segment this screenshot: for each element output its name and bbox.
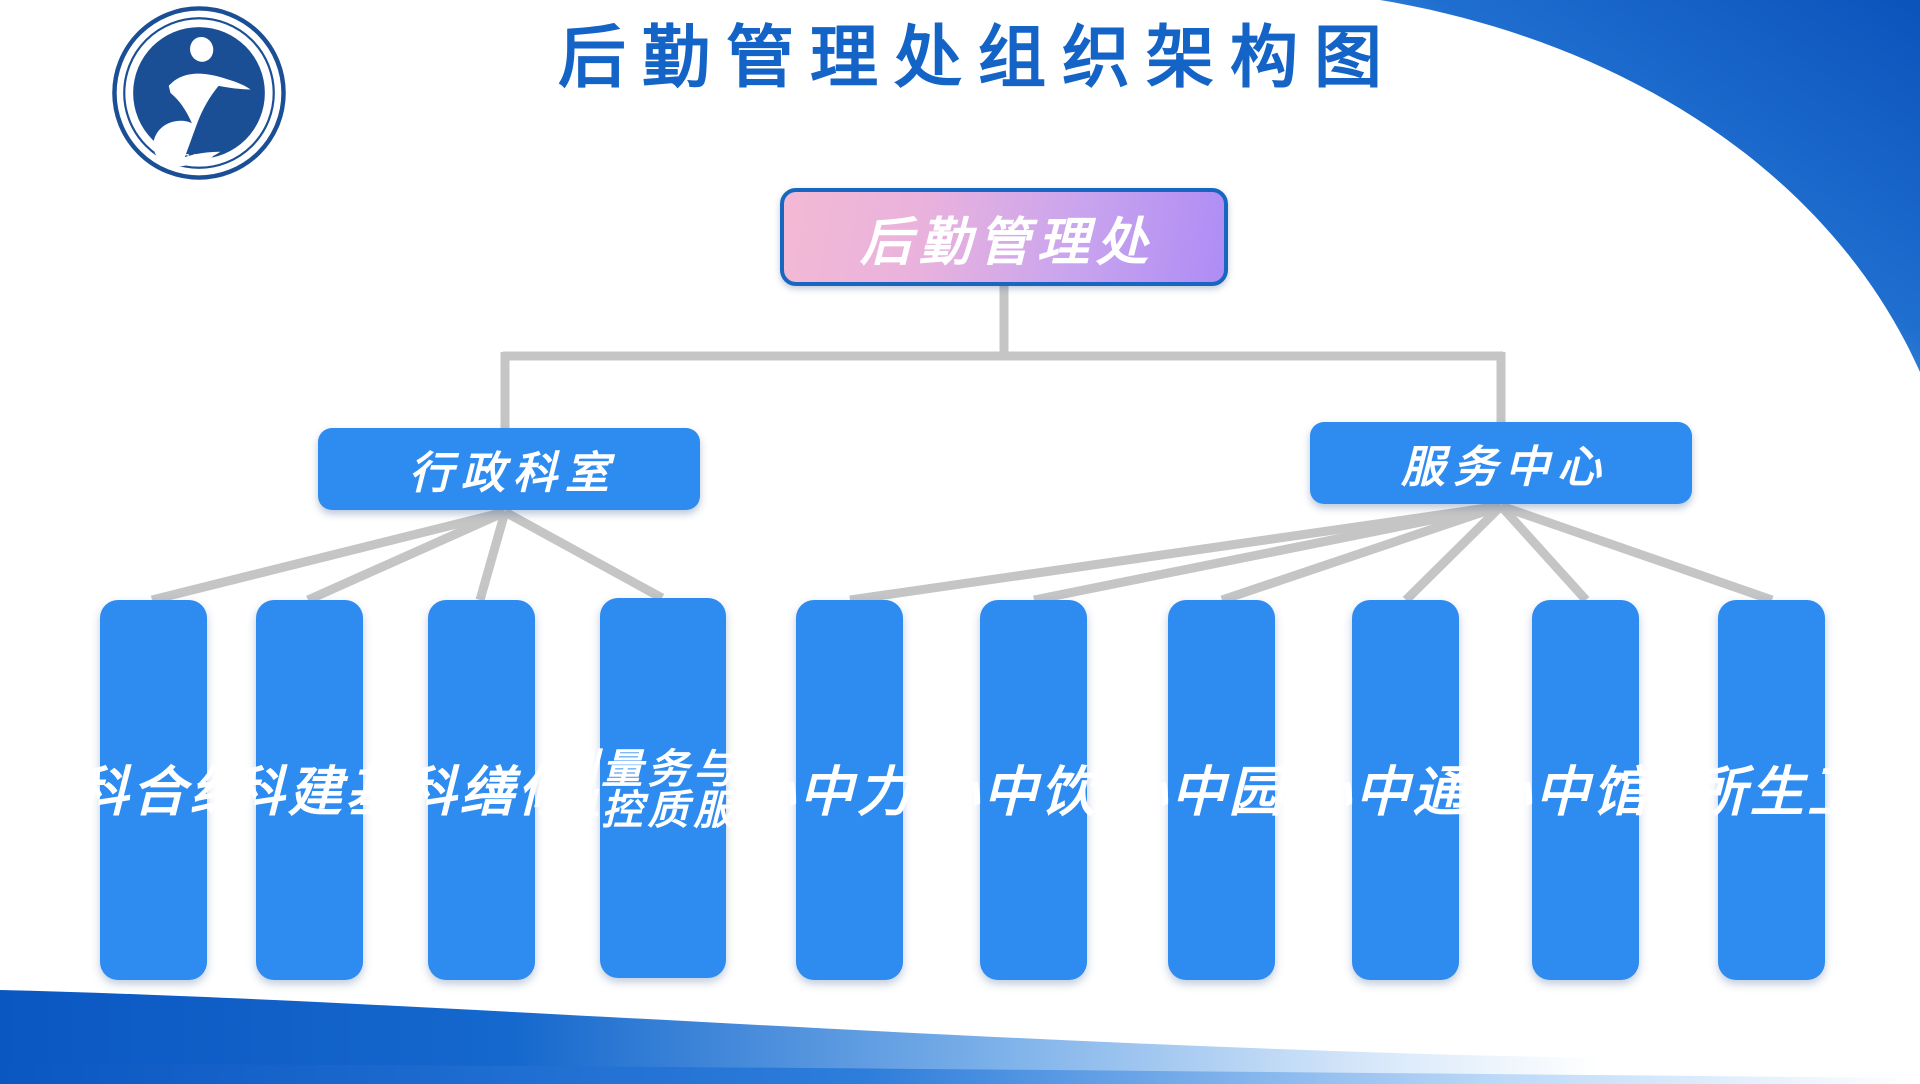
node-leaf-jiaotong-zhongxin[interactable]: 交 通 中 心 (1352, 600, 1459, 980)
node-leaf-jijian-ke[interactable]: 基 建 科 (256, 600, 363, 980)
org-chart-page: 1958 后勤管理处组织架构图 (0, 0, 1920, 1084)
node-leaf-zonghe-ke[interactable]: 综 合 科 (100, 600, 207, 980)
page-header: 1958 后勤管理处组织架构图 (0, 0, 1920, 150)
node-root[interactable]: 后勤管理处 (780, 188, 1228, 286)
node-leaf-label: 修 缮 科 (395, 763, 568, 817)
connector-admin-leaf-2 (480, 512, 505, 600)
connector-service-leaf-2 (1222, 506, 1501, 600)
university-logo-icon: 1958 (110, 4, 288, 182)
connector-admin-leaf-1 (308, 512, 505, 600)
node-branch-admin-label: 行政科室 (401, 437, 617, 501)
node-leaf-changguan-zhongxin[interactable]: 场 馆 中 心 (1532, 600, 1639, 980)
connector-admin-leaf-3 (505, 512, 662, 598)
connector-service-leaf-5 (1501, 506, 1772, 600)
connector-service-leaf-1 (1034, 506, 1501, 600)
node-leaf-label: 基 建 科 (223, 763, 396, 817)
node-leaf-xiaoyuan-zhongxin[interactable]: 校 园 中 心 (1168, 600, 1275, 980)
connector-service-leaf-0 (850, 506, 1501, 600)
node-leaf-dongli-zhongxin[interactable]: 动 力 中 心 (796, 600, 903, 980)
node-leaf-label: 场 馆 中 心 (1470, 763, 1701, 817)
connector-service-leaf-3 (1406, 506, 1501, 600)
node-leaf-jieneng-fuwu-zhiliang-kongzhi-ke[interactable]: 节能 与服 务质 量控 制科 (600, 598, 726, 978)
node-leaf-canyin-zhongxin[interactable]: 餐 饮 中 心 (980, 600, 1087, 980)
connector-admin-leaf-0 (152, 512, 505, 600)
svg-text:1958: 1958 (184, 151, 213, 165)
connector-service-leaf-4 (1501, 506, 1586, 600)
node-leaf-label: 综 合 科 (67, 763, 240, 817)
node-root-label: 后勤管理处 (853, 200, 1155, 275)
node-leaf-label: 卫 生 所 (1685, 763, 1858, 817)
page-title: 后勤管理处组织架构图 (380, 16, 1560, 102)
node-leaf-weishengsuo[interactable]: 卫 生 所 (1718, 600, 1825, 980)
node-branch-service-label: 服务中心 (1393, 431, 1609, 495)
node-branch-service[interactable]: 服务中心 (1310, 422, 1692, 504)
node-leaf-xiushan-ke[interactable]: 修 缮 科 (428, 600, 535, 980)
node-branch-admin[interactable]: 行政科室 (318, 428, 700, 510)
swoosh-bottom-edge (0, 1064, 1920, 1084)
swoosh-bottom-left (0, 990, 1600, 1084)
